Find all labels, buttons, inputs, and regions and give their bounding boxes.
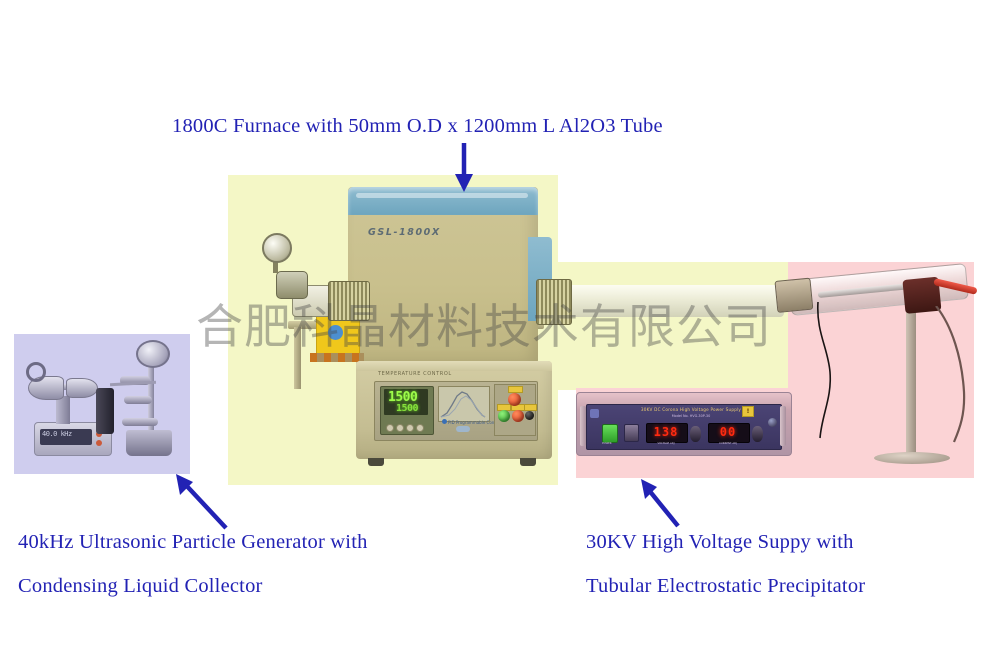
gas-valve[interactable] [276,271,308,299]
carrier-gas-module [96,388,114,434]
furnace-tube-backdrop-panel [556,262,788,390]
indicator-lamp[interactable] [525,411,534,420]
voltage-readout: 138 [646,423,686,441]
label-strip [310,353,364,362]
hv-output-terminal[interactable] [768,418,777,427]
furnace-foot [520,458,536,466]
condensing-liquid-collector [126,430,172,456]
current-readout: 00 [708,423,748,441]
voltage-adjust-knob[interactable] [690,426,701,442]
set-value-readout: 1500 [396,403,418,414]
rack-handle-right[interactable] [780,406,786,446]
control-panel-subtitle: TEMPERATURE CONTROL [378,371,452,377]
high-voltage-power-supply: 30KV DC Corona High Voltage Power Supply… [576,390,790,458]
power-supply-subtitle: Model No. HVG-30P-30 [636,414,746,418]
ultrasonic-chamber [66,378,98,398]
controller-button[interactable] [406,424,414,432]
ce-mark-icon [328,325,343,340]
furnace-base-lip [356,361,552,371]
figure-canvas: GSL-1800X TEMPERATURE CONTROL 1500 1500 [0,0,1000,667]
stand-clamp[interactable] [122,418,158,426]
current-knob-label: CURRENT ADJ [708,442,748,445]
controller-button[interactable] [396,424,404,432]
collector-gauge [136,340,170,368]
hv-enable-switch[interactable] [624,424,639,442]
caption-power-supply-line2: Tubular Electrostatic Precipitator [586,575,865,598]
button-tag [508,386,523,393]
tube-furnace-assembly: GSL-1800X TEMPERATURE CONTROL 1500 1500 [228,175,558,485]
temperature-profile-curve [439,387,487,419]
controller-button[interactable] [416,424,424,432]
rack-handle-left[interactable] [580,406,586,446]
clamp-ring-icon [26,362,46,382]
caption-ultrasonic-line2: Condensing Liquid Collector [18,575,263,598]
voltage-knob-label: VOLTAGE ADJ [646,442,686,445]
current-adjust-knob[interactable] [752,426,763,442]
arrow-to-power-supply [634,476,686,530]
manufacturer-logo-plate [414,333,474,351]
precipitator-inlet-cap [774,278,813,313]
hv-cable [930,306,976,446]
furnace-foot [368,458,384,466]
power-on-lamp[interactable] [498,410,510,422]
power-switch-label: POWER [602,442,620,445]
precipitator-stand-post [906,310,916,458]
panel-slider[interactable] [456,426,470,432]
arrow-to-ultrasonic [168,470,230,532]
high-voltage-warning-icon: ! [742,406,754,417]
heat-lamp[interactable] [512,410,524,422]
tubular-electrostatic-precipitator [788,262,974,478]
furnace-top-highlight [356,193,528,198]
precipitator-stand-base [874,452,950,464]
caption-power-supply-line1: 30KV High Voltage Suppy with [586,531,854,554]
controller-button[interactable] [386,424,394,432]
furnace-stand-leg [294,327,301,389]
power-switch[interactable] [602,424,618,443]
knurled-flange-right [536,279,572,325]
ultrasonic-particle-generator: 40.0 kHz [14,334,190,474]
nebulizer-column [56,396,70,424]
button-tag [524,404,537,411]
stand-clamp[interactable] [124,396,152,404]
caption-furnace: 1800C Furnace with 50mm O.D x 1200mm L A… [172,115,663,138]
pressure-gauge [262,233,292,263]
knurled-flange-left [328,281,370,321]
arrow-to-furnace [451,143,477,193]
alarm-lamp[interactable] [508,393,521,406]
power-supply-title: 30KV DC Corona High Voltage Power Supply [636,407,746,412]
furnace-top-cover [348,187,538,215]
graph-indicator-icon [442,419,447,424]
panel-logo-icon [590,409,599,418]
ultrasonic-frequency-readout: 40.0 kHz [42,430,72,438]
ultrasonic-knob[interactable] [96,440,102,446]
ground-wire [814,302,854,442]
caption-ultrasonic-line1: 40kHz Ultrasonic Particle Generator with [18,531,368,554]
furnace-model-label: GSL-1800X [368,227,441,238]
